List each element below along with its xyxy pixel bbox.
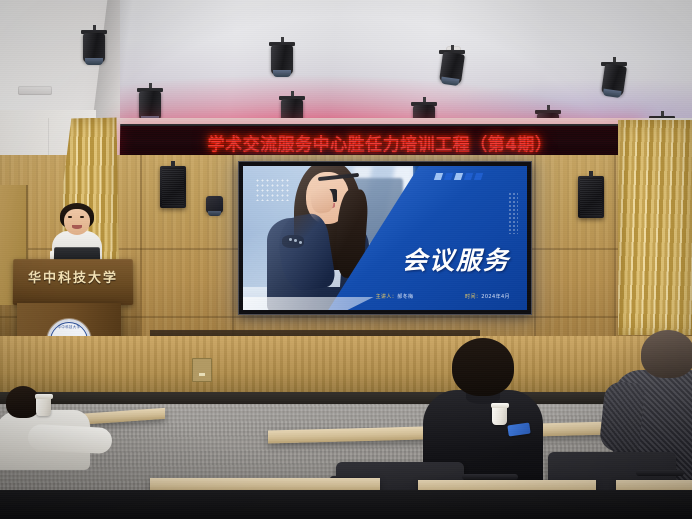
paper-cup-left[interactable] xyxy=(36,396,51,416)
presenter-face xyxy=(64,209,90,235)
slide-dot-grid-decoration xyxy=(255,178,289,201)
ceiling-vent xyxy=(18,86,52,95)
presenter-eye xyxy=(80,216,84,218)
projected-slide: 会议服务 主讲人：郝冬梅 时间：2024年4月 xyxy=(243,166,527,310)
attendee-left xyxy=(6,386,116,456)
attendee-center-head xyxy=(452,338,514,396)
wall-speaker-right xyxy=(578,176,604,218)
presenter-speaker xyxy=(46,203,108,263)
wall-outlet[interactable] xyxy=(192,358,212,382)
slide-title: 会议服务 xyxy=(402,241,510,277)
attendee-right-arm xyxy=(598,380,645,454)
paper-cup-center[interactable] xyxy=(492,405,507,425)
foreground-shadow xyxy=(0,490,692,519)
stage-curtain-right xyxy=(618,120,692,335)
wall-panel-line xyxy=(534,155,536,355)
attendee-right-head xyxy=(641,330,692,378)
wall-spotlight-icon xyxy=(206,196,223,213)
wall-panel-line xyxy=(232,155,234,355)
presenter-mouth xyxy=(72,225,82,229)
slide-accent-bars xyxy=(433,173,482,180)
slide-date-label: 时间： xyxy=(465,294,481,300)
led-banner-text: 学术交流服务中心胜任力培训工程（第4期） xyxy=(207,130,552,155)
wall-panel-line xyxy=(140,155,142,355)
slide-presenter-line: 主讲人：郝冬梅 xyxy=(376,293,414,300)
led-banner: 学术交流服务中心胜任力培训工程（第4期） xyxy=(120,124,640,159)
logo-cn-top-text: 华中科技大学 xyxy=(47,324,91,329)
slide-figure-button xyxy=(289,238,292,241)
wall-speaker-left xyxy=(160,166,186,208)
chair-armrest xyxy=(636,470,684,476)
slide-dot-column-decoration xyxy=(508,192,518,234)
attendee-left-arm xyxy=(27,424,112,454)
podium-university-name: 华中科技大学 xyxy=(13,267,133,286)
lecture-hall-photo: 学术交流服务中心胜任力培训工程（第4期） xyxy=(0,0,692,519)
attendee-left-head xyxy=(6,386,40,418)
presenter-eye xyxy=(68,216,72,218)
slide-presenter-name: 郝冬梅 xyxy=(397,294,413,300)
slide-date-value: 2024年4月 xyxy=(481,294,510,300)
projection-screen: 会议服务 主讲人：郝冬梅 时间：2024年4月 xyxy=(238,161,532,315)
slide-date-line: 时间：2024年4月 xyxy=(465,293,510,300)
slide-presenter-label: 主讲人： xyxy=(376,294,398,300)
podium-nameplate: 华中科技大学 xyxy=(13,259,133,305)
